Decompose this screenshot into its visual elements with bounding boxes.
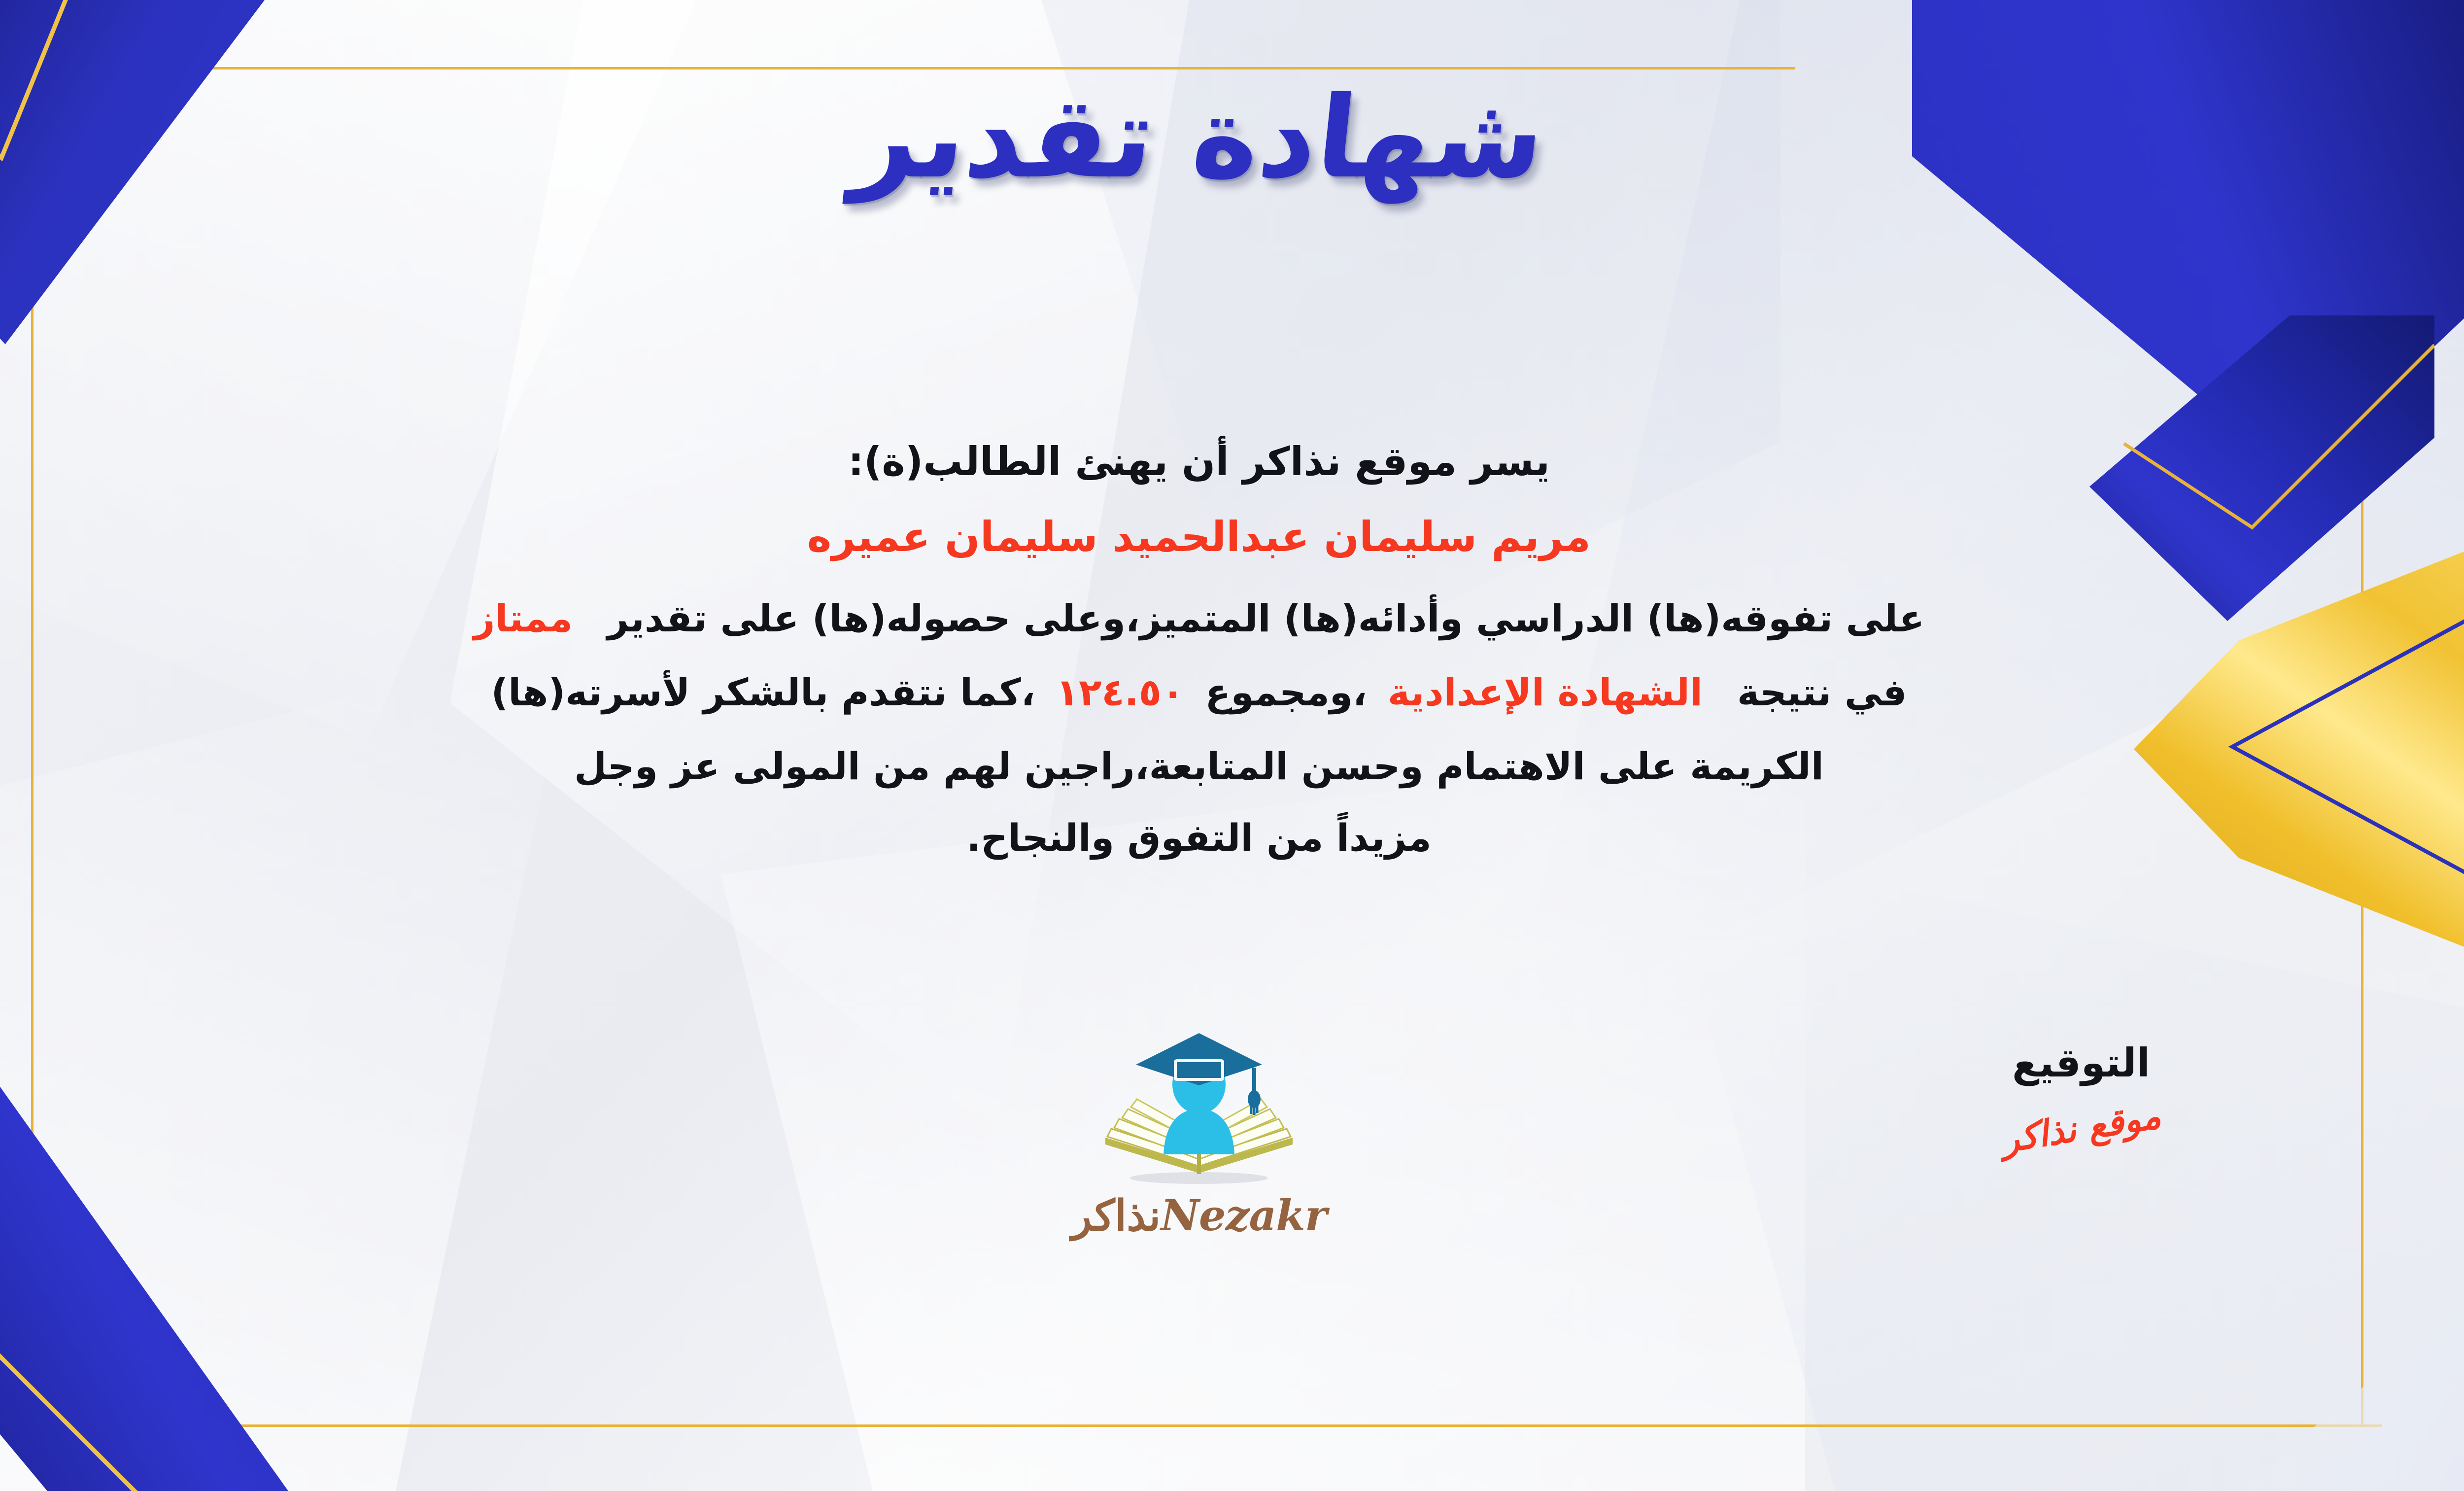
body-line-4: مزيداً من التفوق والنجاح. [41,816,2357,860]
body-line-1: على تفوقه(ها) الدراسي وأدائه(ها) المتميز… [41,596,2357,641]
gold-border-right [2361,163,2363,1424]
logo-wordmark: Nezakrنذاكر [1061,1191,1337,1241]
body-line-3: الكريمة على الاهتمام وحسن المتابعة،راجين… [41,744,2357,789]
body-line-1-text: على تفوقه(ها) الدراسي وأدائه(ها) المتميز… [607,596,1924,640]
total-score: ١٢٤.٥٠ [1056,670,1185,714]
certificate-title: شهادة تقدير [34,79,2363,197]
site-logo: Nezakrنذاكر [1061,1030,1337,1241]
gold-border-left [31,67,34,1427]
signature-label: التوقيع [1953,1040,2209,1086]
graduate-book-icon [1086,1030,1312,1193]
gold-border-top [31,67,1795,69]
body-line-2-prefix: في نتيجة [1737,670,1907,714]
body-line-2-suffix: ،كما نتقدم بالشكر لأسرته(ها) [491,670,1035,714]
student-name: مريم سليمان عبدالحميد سليمان عميره [41,513,2357,561]
gold-border-bottom [56,1424,2382,1427]
grade-value: ممتاز [474,596,573,640]
certificate-canvas: شهادة تقدير يسر موقع نذاكر أن يهنئ الطال… [0,0,2464,1491]
logo-arabic-text: نذاكر [1071,1191,1161,1241]
signature-block: التوقيع موقع نذاكر [1953,1040,2209,1148]
greeting-line: يسر موقع نذاكر أن يهنئ الطالب(ة): [41,439,2357,485]
body-line-2: في نتيجةالشهادة الإعدادية،ومجموع١٢٤.٥٠،ك… [41,670,2357,715]
logo-latin-text: Nezakr [1161,1191,1327,1241]
exam-name: الشهادة الإعدادية [1388,670,1703,714]
signature-mark: موقع نذاكر [1999,1094,2164,1161]
body-line-2-mid: ،ومجموع [1205,670,1367,714]
certificate-content: شهادة تقدير يسر موقع نذاكر أن يهنئ الطال… [41,74,2357,1424]
